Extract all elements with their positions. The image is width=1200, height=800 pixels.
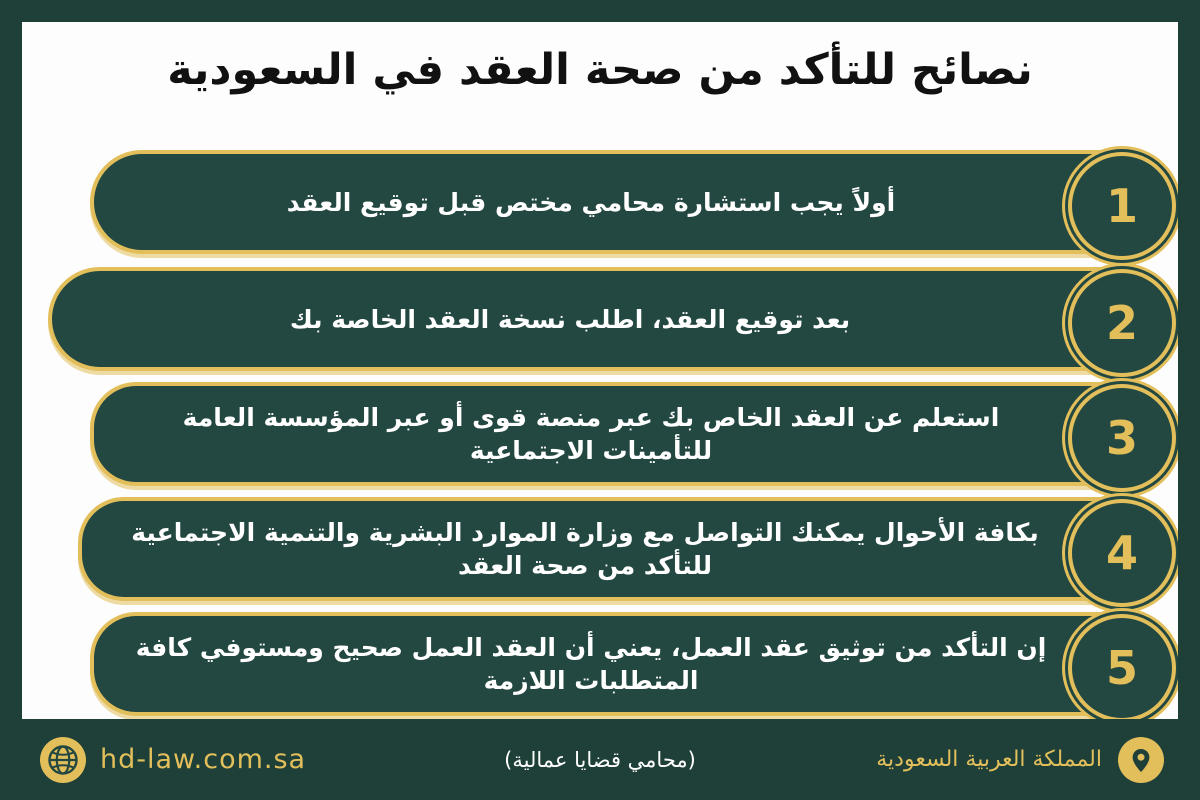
footer-bar: (محامي قضايا عمالية) hd-law.com.sa xyxy=(0,719,1200,800)
step-bar[interactable]: بعد توقيع العقد، اطلب نسخة العقد الخاصة … xyxy=(48,267,1176,371)
country-label: المملكة العربية السعودية xyxy=(876,747,1102,772)
step-number-badge: 1 xyxy=(1068,152,1176,260)
step-text: أولاً يجب استشارة محامي مختص قبل توقيع ا… xyxy=(128,154,1054,250)
step-bar[interactable]: استعلم عن العقد الخاص بك عبر منصة قوى أو… xyxy=(90,382,1176,486)
list-item[interactable]: استعلم عن العقد الخاص بك عبر منصة قوى أو… xyxy=(90,382,1176,486)
website-url[interactable]: hd-law.com.sa xyxy=(100,744,306,775)
step-bar[interactable]: إن التأكد من توثيق عقد العمل، يعني أن ال… xyxy=(90,612,1176,716)
step-number: 3 xyxy=(1106,415,1138,461)
step-number-badge: 5 xyxy=(1068,614,1176,719)
list-item[interactable]: بعد توقيع العقد، اطلب نسخة العقد الخاصة … xyxy=(48,267,1176,371)
footer-website-group[interactable]: hd-law.com.sa xyxy=(40,737,306,783)
poster-canvas: نصائح للتأكد من صحة العقد في السعودية أو… xyxy=(22,22,1178,719)
step-number-badge: 3 xyxy=(1068,384,1176,492)
step-number-badge: 4 xyxy=(1068,499,1176,607)
step-text: إن التأكد من توثيق عقد العمل، يعني أن ال… xyxy=(128,616,1054,712)
step-text: بكافة الأحوال يمكنك التواصل مع وزارة الم… xyxy=(116,501,1054,597)
step-number-badge: 2 xyxy=(1068,269,1176,377)
step-number: 2 xyxy=(1106,300,1138,346)
globe-icon xyxy=(40,737,86,783)
step-text: استعلم عن العقد الخاص بك عبر منصة قوى أو… xyxy=(128,386,1054,482)
step-number: 5 xyxy=(1106,645,1138,691)
list-item[interactable]: إن التأكد من توثيق عقد العمل، يعني أن ال… xyxy=(90,612,1176,716)
list-item[interactable]: بكافة الأحوال يمكنك التواصل مع وزارة الم… xyxy=(78,497,1176,601)
page-title: نصائح للتأكد من صحة العقد في السعودية xyxy=(22,44,1178,98)
location-pin-icon xyxy=(1118,737,1164,783)
footer-country-group: المملكة العربية السعودية xyxy=(876,737,1164,783)
step-number: 4 xyxy=(1106,530,1138,576)
infographic-poster: نصائح للتأكد من صحة العقد في السعودية أو… xyxy=(0,0,1200,800)
list-item[interactable]: أولاً يجب استشارة محامي مختص قبل توقيع ا… xyxy=(90,150,1176,254)
step-text: بعد توقيع العقد، اطلب نسخة العقد الخاصة … xyxy=(86,271,1054,367)
step-bar[interactable]: أولاً يجب استشارة محامي مختص قبل توقيع ا… xyxy=(90,150,1176,254)
step-bar[interactable]: بكافة الأحوال يمكنك التواصل مع وزارة الم… xyxy=(78,497,1176,601)
step-number: 1 xyxy=(1106,183,1138,229)
